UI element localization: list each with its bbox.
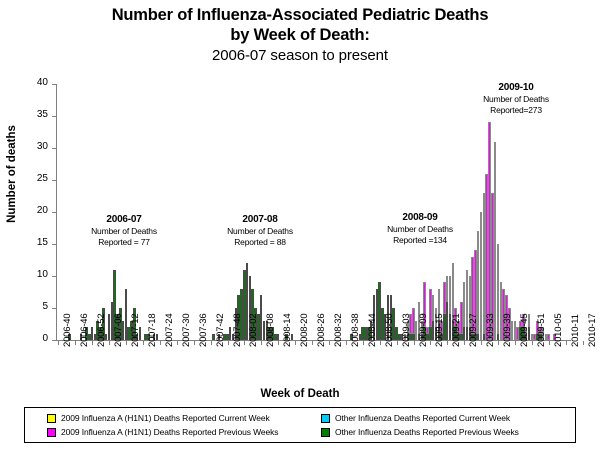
x-tick-mark bbox=[58, 341, 59, 345]
season-count-line2: Reported = 77 bbox=[60, 237, 188, 248]
x-tick-mark bbox=[397, 341, 398, 345]
x-tick-label: 2008-38 bbox=[350, 314, 361, 347]
legend-item-label: 2009 Influenza A (H1N1) Deaths Reported … bbox=[61, 413, 270, 423]
x-tick-mark bbox=[481, 341, 482, 345]
x-tick-mark bbox=[464, 341, 465, 345]
x-tick-label: 2007-06 bbox=[113, 314, 124, 347]
y-tick-label: 0 bbox=[0, 333, 48, 344]
x-tick-label: 2010-17 bbox=[587, 314, 598, 347]
season-annotation-2009-10: 2009-10 Number of Deaths Reported=273 bbox=[443, 81, 589, 115]
x-tick-mark bbox=[211, 341, 212, 345]
season-label: 2006-07 bbox=[60, 213, 188, 226]
x-tick-mark bbox=[430, 341, 431, 345]
x-tick-label: 2007-48 bbox=[232, 314, 243, 347]
legend-item: 2009 Influenza A (H1N1) Deaths Reported … bbox=[47, 425, 278, 439]
season-annotation-2008-09: 2008-09 Number of Deaths Reported =134 bbox=[356, 211, 484, 245]
x-tick-label: 2008-20 bbox=[299, 314, 310, 347]
x-tick-label: 2009-03 bbox=[401, 314, 412, 347]
y-tick-label: 35 bbox=[0, 109, 48, 120]
legend-item: Other Influenza Deaths Reported Previous… bbox=[321, 425, 519, 439]
legend-item-label: Other Influenza Deaths Reported Current … bbox=[335, 413, 510, 423]
bar bbox=[277, 334, 280, 340]
x-tick-mark bbox=[143, 341, 144, 345]
season-count-line1: Number of Deaths bbox=[196, 226, 324, 237]
x-tick-mark bbox=[92, 341, 93, 345]
x-tick-label: 2006-40 bbox=[62, 314, 73, 347]
bar-segment-other-influenza bbox=[277, 334, 280, 340]
chart-title: Number of Influenza-Associated Pediatric… bbox=[0, 5, 600, 66]
x-tick-mark bbox=[109, 341, 110, 345]
y-tick-label: 15 bbox=[0, 237, 48, 248]
x-tick-mark bbox=[583, 341, 584, 345]
title-line-2: by Week of Death: bbox=[0, 25, 600, 46]
x-tick-label: 2009-51 bbox=[536, 314, 547, 347]
y-tick-label: 10 bbox=[0, 269, 48, 280]
x-axis-title: Week of Death bbox=[0, 388, 600, 400]
x-tick-label: 2008-26 bbox=[316, 314, 327, 347]
legend-column-right: Other Influenza Deaths Reported Current … bbox=[321, 411, 519, 439]
x-tick-mark bbox=[295, 341, 296, 345]
season-count-line1: Number of Deaths bbox=[356, 224, 484, 235]
x-tick-mark bbox=[549, 341, 550, 345]
x-tick-label: 2008-50 bbox=[384, 314, 395, 347]
y-tick-label: 30 bbox=[0, 141, 48, 152]
x-tick-label: 2007-30 bbox=[181, 314, 192, 347]
x-tick-label: 2006-46 bbox=[79, 314, 90, 347]
x-tick-mark bbox=[244, 341, 245, 345]
x-tick-mark bbox=[228, 341, 229, 345]
x-tick-mark bbox=[194, 341, 195, 345]
yellow-square-icon bbox=[47, 414, 56, 423]
title-line-3: 2006-07 season to present bbox=[0, 46, 600, 66]
x-tick-mark bbox=[160, 341, 161, 345]
x-tick-label: 2009-39 bbox=[502, 314, 513, 347]
x-tick-mark bbox=[177, 341, 178, 345]
chart-legend: 2009 Influenza A (H1N1) Deaths Reported … bbox=[24, 407, 576, 443]
x-tick-mark bbox=[414, 341, 415, 345]
x-tick-mark bbox=[447, 341, 448, 345]
x-tick-label: 2009-27 bbox=[468, 314, 479, 347]
x-tick-mark bbox=[312, 341, 313, 345]
x-tick-mark bbox=[515, 341, 516, 345]
x-tick-label: 2007-18 bbox=[147, 314, 158, 347]
season-count-line1: Number of Deaths bbox=[443, 94, 589, 105]
season-label: 2008-09 bbox=[356, 211, 484, 224]
x-tick-mark bbox=[329, 341, 330, 345]
magenta-square-icon bbox=[47, 428, 56, 437]
x-tick-label: 2008-02 bbox=[248, 314, 259, 347]
cyan-square-icon bbox=[321, 414, 330, 423]
y-tick-label: 20 bbox=[0, 205, 48, 216]
x-tick-mark bbox=[380, 341, 381, 345]
x-tick-label: 2007-36 bbox=[198, 314, 209, 347]
y-tick-label: 5 bbox=[0, 301, 48, 312]
x-tick-label: 2010-11 bbox=[570, 314, 581, 347]
green-square-icon bbox=[321, 428, 330, 437]
x-tick-label: 2006-52 bbox=[96, 314, 107, 347]
y-tick-label: 25 bbox=[0, 173, 48, 184]
season-count-line1: Number of Deaths bbox=[60, 226, 188, 237]
legend-column-left: 2009 Influenza A (H1N1) Deaths Reported … bbox=[47, 411, 278, 439]
legend-item: 2009 Influenza A (H1N1) Deaths Reported … bbox=[47, 411, 278, 425]
x-tick-mark bbox=[75, 341, 76, 345]
x-tick-mark bbox=[363, 341, 364, 345]
x-tick-mark bbox=[498, 341, 499, 345]
legend-item-label: 2009 Influenza A (H1N1) Deaths Reported … bbox=[61, 427, 278, 437]
x-tick-label: 2007-42 bbox=[215, 314, 226, 347]
x-tick-mark bbox=[532, 341, 533, 345]
legend-item-label: Other Influenza Deaths Reported Previous… bbox=[335, 427, 519, 437]
season-count-line2: Reported = 88 bbox=[196, 237, 324, 248]
legend-item: Other Influenza Deaths Reported Current … bbox=[321, 411, 519, 425]
season-annotation-2007-08: 2007-08 Number of Deaths Reported = 88 bbox=[196, 213, 324, 247]
x-tick-mark bbox=[566, 341, 567, 345]
x-tick-mark bbox=[278, 341, 279, 345]
x-tick-label: 2008-44 bbox=[367, 314, 378, 347]
season-label: 2007-08 bbox=[196, 213, 324, 226]
influenza-pediatric-deaths-chart: Number of Influenza-Associated Pediatric… bbox=[0, 0, 600, 450]
season-label: 2009-10 bbox=[443, 81, 589, 94]
season-count-line2: Reported=273 bbox=[443, 105, 589, 116]
x-tick-label: 2008-14 bbox=[282, 314, 293, 347]
x-tick-mark bbox=[126, 341, 127, 345]
x-tick-label: 2009-15 bbox=[434, 314, 445, 347]
x-tick-label: 2007-12 bbox=[130, 314, 141, 347]
bar-segment-h1n1 bbox=[547, 334, 550, 340]
x-tick-label: 2010-05 bbox=[553, 314, 564, 347]
title-line-1: Number of Influenza-Associated Pediatric… bbox=[0, 5, 600, 25]
x-tick-label: 2009-45 bbox=[519, 314, 530, 347]
y-tick-label: 40 bbox=[0, 77, 48, 88]
plot-area bbox=[57, 84, 570, 340]
x-tick-label: 2009-21 bbox=[451, 314, 462, 347]
x-tick-mark bbox=[261, 341, 262, 345]
x-tick-mark bbox=[346, 341, 347, 345]
x-tick-label: 2008-08 bbox=[265, 314, 276, 347]
x-tick-label: 2007-24 bbox=[164, 314, 175, 347]
x-tick-label: 2009-09 bbox=[418, 314, 429, 347]
season-annotation-2006-07: 2006-07 Number of Deaths Reported = 77 bbox=[60, 213, 188, 247]
x-tick-label: 2009-33 bbox=[485, 314, 496, 347]
bar bbox=[547, 334, 550, 340]
x-tick-label: 2008-32 bbox=[333, 314, 344, 347]
season-count-line2: Reported =134 bbox=[356, 235, 484, 246]
